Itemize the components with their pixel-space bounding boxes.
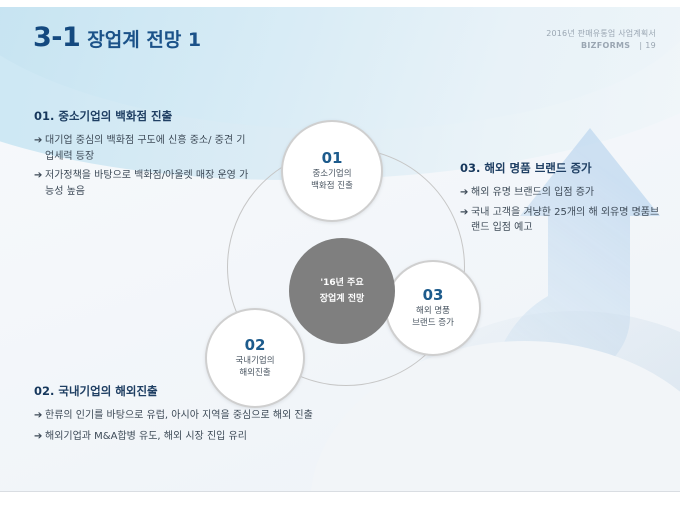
diagram-node-03-number: 03 — [423, 287, 444, 304]
diagram-node-01-line2: 백화점 진출 — [311, 181, 353, 192]
content-block-02-title: 국내기업의 해외진출 — [58, 384, 157, 398]
content-block-02-index: 02. — [34, 384, 54, 398]
page-title: 3-1장업계 전망 1 — [33, 22, 201, 53]
slide-root: 3-1장업계 전망 1 2016년 판매유통업 사업계획서 BIZFORMS| … — [0, 0, 680, 510]
document-meta: 2016년 판매유통업 사업계획서 BIZFORMS| 19 — [546, 28, 656, 52]
brand-label: BIZFORMS — [581, 41, 630, 50]
arrow-bullet-icon: ➔ — [34, 133, 42, 149]
diagram-core-line2: 장업계 전망 — [320, 291, 365, 307]
page-title-number: 3-1 — [33, 22, 80, 53]
list-item-text: 한류의 인기를 바탕으로 유럽, 아시아 지역을 중심으로 해외 진출 — [45, 408, 454, 424]
top-white-strip — [0, 0, 680, 7]
content-block-01-title: 중소기업의 백화점 진출 — [58, 109, 172, 123]
slide-canvas: 3-1장업계 전망 1 2016년 판매유통업 사업계획서 BIZFORMS| … — [0, 0, 680, 492]
page-bottom-margin — [0, 493, 680, 510]
diagram-core-circle[interactable]: '16년 주요 장업계 전망 — [289, 238, 395, 344]
cycle-diagram: 01 중소기업의 백화점 진출 02 국내기업의 해외진출 03 해외 명품 브… — [185, 120, 505, 410]
diagram-node-02-line2: 해외진출 — [239, 368, 270, 379]
diagram-node-01-line1: 중소기업의 — [312, 169, 351, 180]
content-block-01-index: 01. — [34, 109, 54, 123]
diagram-node-01-number: 01 — [322, 150, 343, 167]
arrow-bullet-icon: ➔ — [34, 429, 42, 445]
arrow-bullet-icon: ➔ — [34, 168, 42, 184]
list-item: ➔ 한류의 인기를 바탕으로 유럽, 아시아 지역을 중심으로 해외 진출 — [34, 408, 454, 424]
document-name: 2016년 판매유통업 사업계획서 — [546, 28, 656, 40]
diagram-node-03-line1: 해외 명품 — [416, 306, 450, 317]
page-title-text: 장업계 전망 1 — [87, 29, 201, 51]
list-item-text: 해외기업과 M&A합병 유도, 해외 시장 진입 유리 — [45, 429, 454, 445]
diagram-node-02-line1: 국내기업의 — [235, 356, 274, 367]
diagram-node-03-line2: 브랜드 증가 — [412, 318, 454, 329]
document-brand-line: BIZFORMS| 19 — [546, 40, 656, 52]
diagram-node-02-number: 02 — [245, 337, 266, 354]
diagram-core-line1: '16년 주요 — [320, 275, 363, 291]
page-number: | 19 — [639, 41, 656, 50]
diagram-node-01[interactable]: 01 중소기업의 백화점 진출 — [281, 120, 383, 222]
diagram-node-03[interactable]: 03 해외 명품 브랜드 증가 — [385, 260, 481, 356]
list-item: ➔ 해외기업과 M&A합병 유도, 해외 시장 진입 유리 — [34, 429, 454, 445]
diagram-node-02[interactable]: 02 국내기업의 해외진출 — [205, 308, 305, 408]
arrow-bullet-icon: ➔ — [34, 408, 42, 424]
